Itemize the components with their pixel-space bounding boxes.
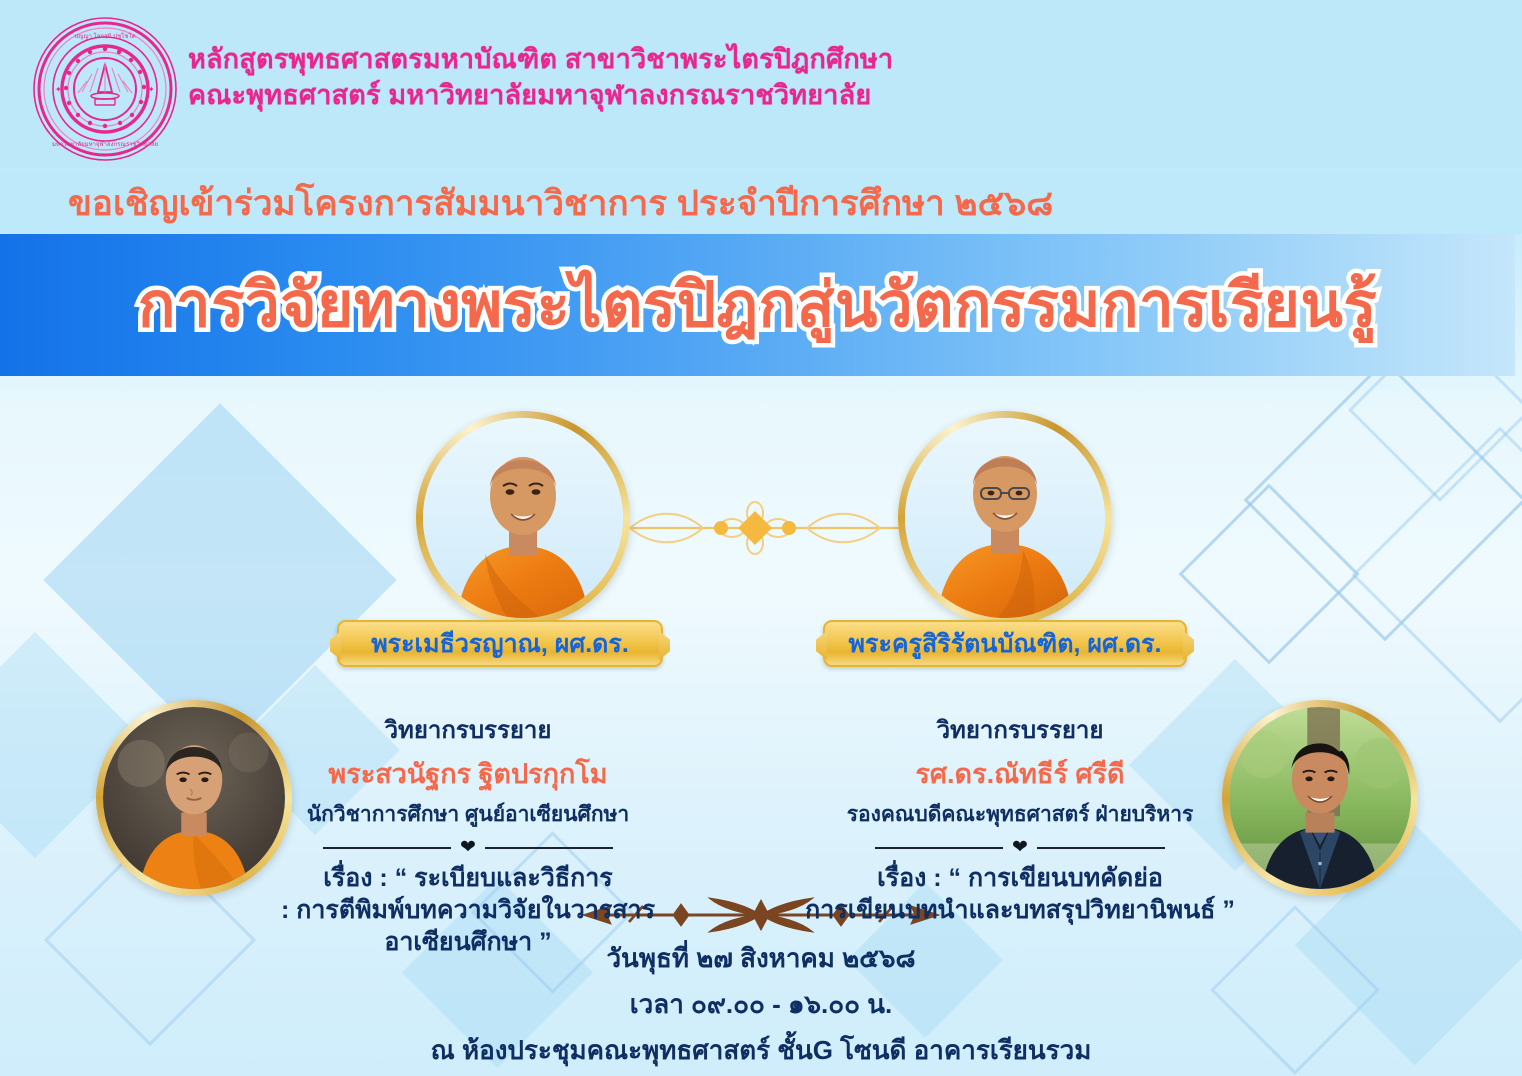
speaker-portrait-right — [1222, 700, 1418, 896]
portrait-image-speaker-right — [1229, 707, 1411, 889]
monk-photo-icon — [905, 418, 1105, 618]
speaker-name-right: รศ.ดร.ณัทธีร์ ศรีดี — [790, 752, 1250, 795]
speaker-name-left: พระสวนัฐกร ฐิตปรกุกโม — [238, 752, 698, 795]
speaker-block-right: วิทยากรบรรยาย รศ.ดร.ณัทธีร์ ศรีดี รองคณบ… — [790, 710, 1250, 926]
heart-icon: ❤ — [460, 838, 476, 857]
header-line-2: คณะพุทธศาสตร์ มหาวิทยาลัยมหาจุฬาลงกรณราช… — [188, 78, 893, 114]
speaker-topic-line2-right: การเขียนบทนำและบทสรุปวิทยานิพนธ์ ” — [790, 894, 1250, 926]
speaker-position-right: รองคณบดีคณะพุทธศาสตร์ ฝ่ายบริหาร — [790, 798, 1250, 831]
speaker-role-left: วิทยากรบรรยาย — [238, 710, 698, 749]
center-divider-ornament — [585, 497, 925, 559]
gold-circle-frame — [898, 411, 1112, 625]
speaker-position-left: นักวิชาการศึกษา ศูนย์อาเซียนศึกษา — [238, 798, 698, 831]
invitation-line: ขอเชิญเข้าร่วมโครงการสัมมนาวิชาการ ประจำ… — [0, 172, 1522, 234]
speaker-role-right: วิทยากรบรรยาย — [790, 710, 1250, 749]
divider-line — [485, 847, 613, 849]
lecturer-photo-icon — [1229, 707, 1411, 889]
gold-flourish-icon — [585, 497, 925, 559]
svg-text:ปญญา โลกสฺมิ ปชฺโชโต: ปญญา โลกสฺมิ ปชฺโชโต — [74, 32, 135, 40]
event-venue: ณ ห้องประชุมคณะพุทธศาสตร์ ชั้นG โซนดี อา… — [0, 1030, 1522, 1071]
svg-text:มหาวิทยาลัยมหาจุฬาลงกรณราชวิทย: มหาวิทยาลัยมหาจุฬาลงกรณราชวิทยาลัย — [52, 140, 158, 148]
divider-line — [875, 847, 1003, 849]
university-logo: ปญญา โลกสฺมิ ปชฺโชโต มหาวิทยาลัยมหาจุฬาล… — [32, 16, 178, 162]
mcu-seal-icon: ปญญา โลกสฺมิ ปชฺโชโต มหาวิทยาลัยมหาจุฬาล… — [32, 16, 178, 162]
portrait-image-left — [423, 418, 623, 618]
header-title-block: หลักสูตรพุทธศาสตรมหาบัณฑิต สาขาวิชาพระไต… — [188, 42, 893, 113]
guest-portrait-left — [416, 411, 630, 625]
bg-diamond-outline — [1244, 359, 1522, 642]
portrait-image-right — [905, 418, 1105, 618]
speaker-block-left: วิทยากรบรรยาย พระสวนัฐกร ฐิตปรกุกโม นักว… — [238, 710, 698, 958]
svg-text:✦: ✦ — [55, 85, 62, 94]
guest-portrait-right — [898, 411, 1112, 625]
speaker-topic-line1-left: เรื่อง : “ ระเบียบและวิธีการ — [238, 862, 698, 894]
svg-text:✦: ✦ — [148, 85, 155, 94]
speaker-topic-line1-right: เรื่อง : “ การเขียนบทคัดย่อ — [790, 862, 1250, 894]
event-date: วันพุธที่ ๒๗ สิงหาคม ๒๕๖๘ — [0, 938, 1522, 979]
heart-divider-left: ❤ — [238, 838, 698, 857]
title-banner: การวิจัยทางพระไตรปิฎกสู่นวัตกรรมการเรียน… — [0, 234, 1515, 376]
seminar-poster: ปญญา โลกสฺมิ ปชฺโชโต มหาวิทยาลัยมหาจุฬาล… — [0, 0, 1522, 1076]
event-time: เวลา ๐๙.๐๐ - ๑๖.๐๐ น. — [0, 984, 1522, 1025]
header-line-1: หลักสูตรพุทธศาสตรมหาบัณฑิต สาขาวิชาพระไต… — [188, 42, 893, 78]
gold-circle-frame — [1222, 700, 1418, 896]
banner-title-text: การวิจัยทางพระไตรปิฎกสู่นวัตกรรมการเรียน… — [138, 256, 1377, 354]
divider-line — [1037, 847, 1165, 849]
heart-divider-right: ❤ — [790, 838, 1250, 857]
poster-header: ปญญา โลกสฺมิ ปชฺโชโต มหาวิทยาลัยมหาจุฬาล… — [0, 0, 1522, 168]
gold-circle-frame — [416, 411, 630, 625]
guest-name-badge-right: พระครูสิริรัตนบัณฑิต, ผศ.ดร. — [823, 620, 1187, 667]
guest-name-badge-left: พระเมธีวรญาณ, ผศ.ดร. — [337, 620, 663, 667]
bg-diamond-outline — [1178, 483, 1359, 664]
divider-line — [323, 847, 451, 849]
heart-icon: ❤ — [1012, 838, 1028, 857]
event-details: วันพุธที่ ๒๗ สิงหาคม ๒๕๖๘ เวลา ๐๙.๐๐ - ๑… — [0, 938, 1522, 1076]
bg-diamond-outline — [1352, 427, 1522, 724]
monk-photo-icon — [423, 418, 623, 618]
